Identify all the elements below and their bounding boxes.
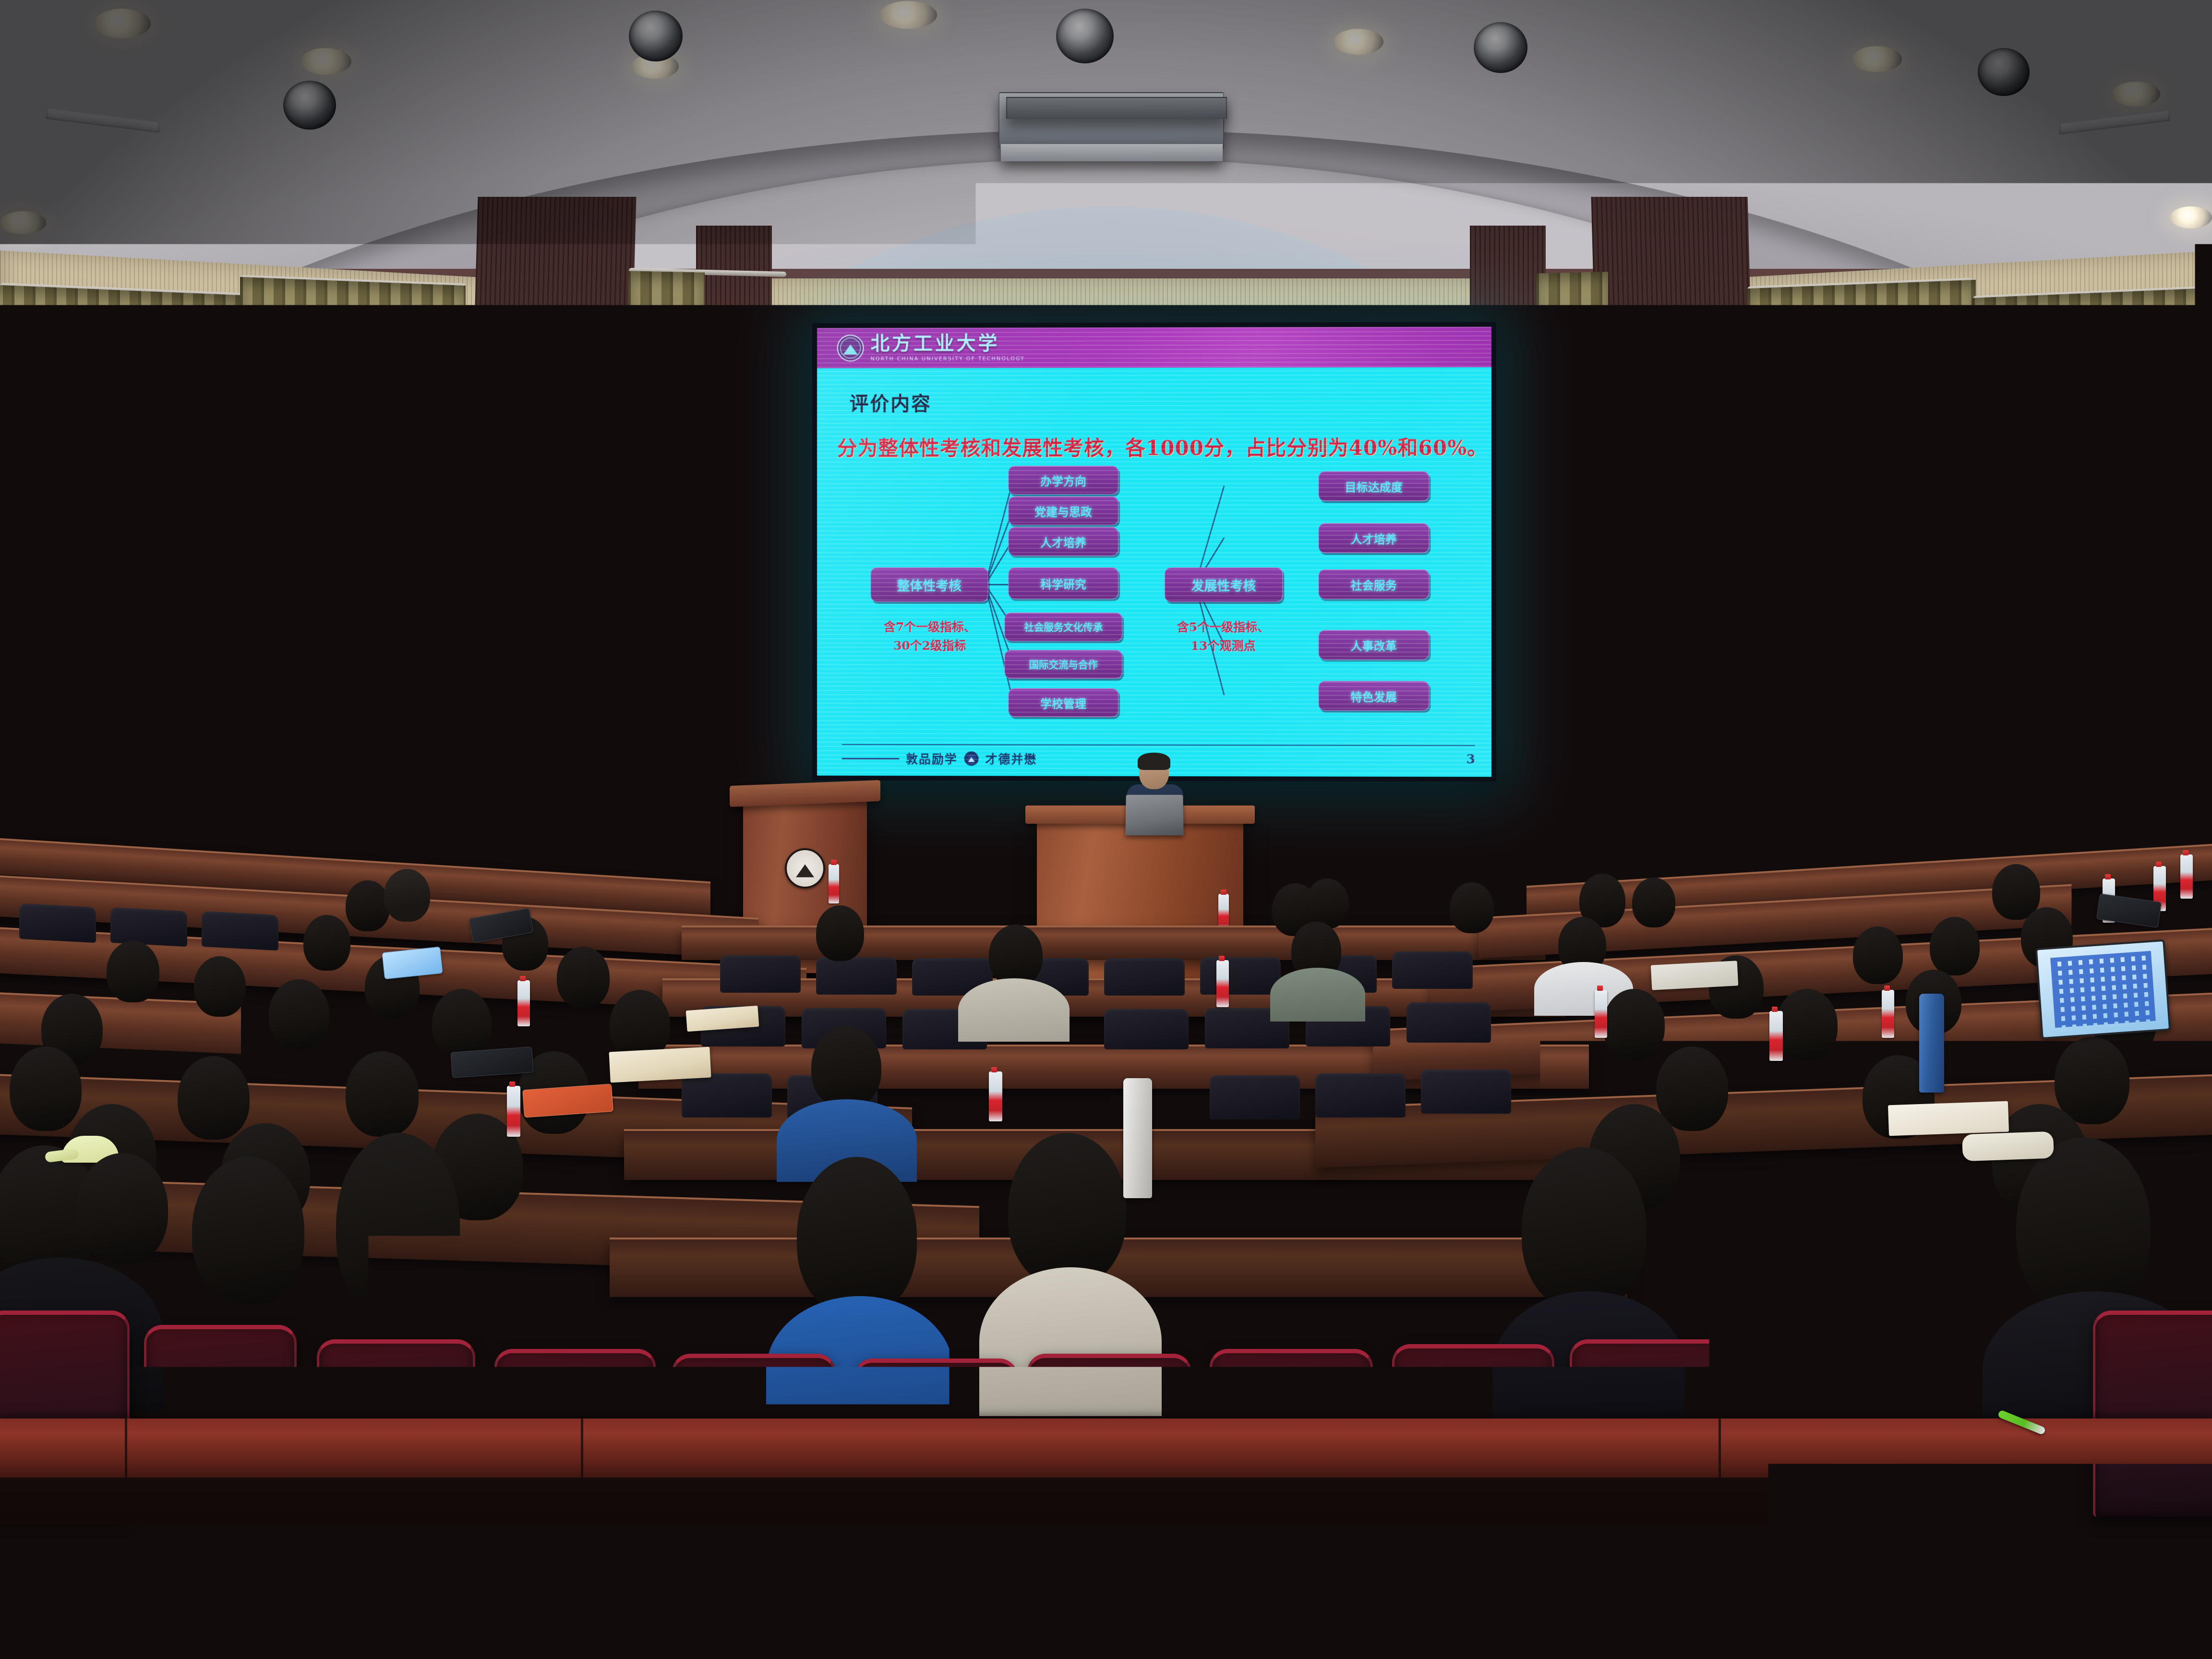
water-bottle <box>517 980 530 1026</box>
desk-seam <box>581 1419 583 1481</box>
emergency-exit-sign: 安全出口 EXIT <box>1854 656 1950 686</box>
audience-torso <box>958 978 1070 1042</box>
downlight-icon <box>2112 82 2160 107</box>
seat-back <box>202 911 278 950</box>
footer-seal-icon <box>964 751 979 766</box>
audience-head <box>384 869 430 922</box>
footer-motto-left: 敦品励学 <box>906 750 958 767</box>
node-left-item-1: 党建与思政 <box>1008 496 1118 525</box>
water-bottle <box>989 1071 1002 1121</box>
downlight-icon <box>301 48 351 75</box>
node-right-item-2: 社会服务 <box>1318 569 1429 599</box>
ceiling-speaker-icon <box>283 81 336 130</box>
kraft-notebook: able <box>1795 1395 1914 1466</box>
node-right-item-3: 人事改革 <box>1318 630 1429 660</box>
university-seal-icon <box>837 335 864 361</box>
audience-head-front <box>2016 1138 2151 1315</box>
audience-head <box>1603 989 1665 1060</box>
ceiling-trim <box>1001 144 1223 161</box>
water-bottle <box>507 1086 520 1137</box>
ceiling-speaker-icon <box>1474 22 1527 73</box>
audience-head-front <box>797 1157 917 1315</box>
notebook-cover-text: able <box>1796 1407 1911 1431</box>
university-name-cn: 北方工业大学 <box>870 334 1025 353</box>
acoustic-panel-right-b <box>1834 454 2083 669</box>
presenter-laptop <box>1125 795 1183 836</box>
seat-back <box>110 907 187 947</box>
audience-head-front <box>1522 1147 1647 1310</box>
downlight-icon <box>0 211 46 234</box>
exit-sign-label-en: EXIT <box>1919 667 1939 675</box>
curtain-left-b <box>240 277 466 593</box>
node-root-left: 整体性考核 <box>870 567 988 602</box>
ceiling-speaker-icon <box>1056 9 1114 63</box>
seat-back <box>1392 951 1473 989</box>
water-bottle <box>1216 960 1229 1007</box>
curtain-center-right <box>1536 272 1608 542</box>
seat-back <box>1200 957 1281 995</box>
audience-head <box>303 915 350 971</box>
slide-divider <box>842 744 1475 746</box>
slide-title: 评价内容 <box>850 388 932 416</box>
open-notebook <box>1888 1101 2009 1136</box>
downlight-icon <box>1334 29 1383 55</box>
seat-back <box>720 955 801 993</box>
ceiling-speaker-icon <box>629 11 683 61</box>
note-left: 含7个一级指标、 30个2级指标 <box>863 618 997 656</box>
downlight-icon <box>879 1 937 29</box>
wall-panel-dark-left <box>442 430 499 588</box>
wall-sconce-right <box>2086 691 2113 753</box>
audience-head <box>194 956 246 1017</box>
node-root-right: 发展性考核 <box>1165 567 1283 602</box>
seat-back <box>1104 958 1185 996</box>
speaker-hair <box>1138 753 1170 770</box>
footer-motto-right: 才德并懋 <box>986 750 1037 767</box>
audience-head <box>1776 989 1838 1060</box>
audience-head <box>1853 926 1903 984</box>
audience-head <box>107 941 159 1002</box>
note-right-line1: 含5个一级指标、 <box>1158 618 1288 637</box>
open-notebook <box>609 1047 711 1083</box>
audience-head <box>432 989 492 1058</box>
downlight-icon <box>1852 46 1902 72</box>
audience-head <box>269 979 329 1049</box>
node-left-item-5: 国际交流与合作 <box>1004 650 1122 679</box>
audience-head <box>1930 917 1980 975</box>
exit-sign-label-cn: 安全出口 <box>1864 666 1895 676</box>
podium-seal-icon <box>785 848 825 889</box>
water-bottle <box>1769 1011 1783 1061</box>
water-bottle <box>1595 990 1607 1038</box>
seat-back <box>1210 1075 1300 1119</box>
node-right-item-1: 人才培养 <box>1318 523 1429 553</box>
audience-head-front <box>336 1133 460 1318</box>
note-left-line1: 含7个一级指标、 <box>863 618 997 637</box>
watermark-label: 新闻网 <box>2070 1589 2187 1642</box>
note-right: 含5个一级指标、 13个观测点 <box>1158 618 1288 656</box>
node-right-item-4: 特色发展 <box>1318 681 1429 710</box>
audience-head <box>346 1051 419 1137</box>
node-left-item-3: 科学研究 <box>1008 567 1118 599</box>
wall-pilaster-right <box>1591 197 1763 763</box>
seat-back <box>1104 1009 1189 1049</box>
footer-rule <box>842 757 899 759</box>
audience-head <box>1450 882 1494 933</box>
audience-head-front <box>192 1157 304 1305</box>
slide-page-number: 3 <box>1467 752 1475 767</box>
audience-head <box>10 1046 82 1131</box>
curtain-center-left <box>628 271 705 541</box>
seat-back <box>1421 1070 1511 1114</box>
projection-screen: 北方工业大学 NORTH CHINA UNIVERSITY OF TECHNOL… <box>812 322 1496 782</box>
audience-torso <box>1270 968 1365 1022</box>
seat-back <box>816 957 897 995</box>
wall-sconce-left <box>209 699 235 758</box>
seat-back <box>1407 1002 1491 1043</box>
watermark-seal-icon <box>2018 1593 2062 1637</box>
university-name-en: NORTH CHINA UNIVERSITY OF TECHNOLOGY <box>870 355 1025 361</box>
ceiling-speaker-icon <box>1978 48 2030 96</box>
ceiling-housing-face <box>1006 97 1227 119</box>
thermos-flask <box>1123 1078 1152 1198</box>
open-notebook <box>921 1165 1066 1203</box>
thermos-flask <box>1919 994 1944 1093</box>
curtain-left-a <box>0 285 240 602</box>
desk-seam <box>1719 1419 1721 1481</box>
running-man-icon <box>1899 662 1916 680</box>
audience-head <box>816 905 864 961</box>
audience-head <box>1306 878 1349 928</box>
node-left-item-6: 学校管理 <box>1008 688 1118 717</box>
note-right-line2: 13个观测点 <box>1158 637 1288 656</box>
slide-lead-text: 分为整体性考核和发展性考核，各1000分，占比分别为40%和60%。 <box>837 432 1480 461</box>
audience-head <box>811 1026 881 1108</box>
foreground-shadow <box>0 1478 2212 1659</box>
node-right-item-0: 目标达成度 <box>1318 471 1429 501</box>
water-bottle <box>2180 854 2193 899</box>
audience-head <box>346 880 390 931</box>
desk-seam <box>125 1419 127 1481</box>
audience-head <box>2055 1037 2129 1124</box>
downlight-icon <box>2170 206 2212 228</box>
seat-back <box>19 903 96 943</box>
audience-head-front <box>77 1153 168 1264</box>
audience-head <box>557 947 610 1008</box>
note-left-line2: 30个2级指标 <box>863 637 997 655</box>
seat-back <box>1315 1073 1406 1118</box>
water-bottle <box>1882 990 1894 1038</box>
audience-head <box>1632 878 1675 927</box>
node-left-item-4: 社会服务文化传承 <box>1004 613 1122 641</box>
presentation-slide: 北方工业大学 NORTH CHINA UNIVERSITY OF TECHNOL… <box>817 327 1491 777</box>
node-left-item-0: 办学方向 <box>1008 466 1118 494</box>
wall-pilaster-inner-left <box>696 226 772 384</box>
downlight-icon <box>94 9 151 38</box>
audience-head <box>1656 1046 1728 1131</box>
slide-header: 北方工业大学 NORTH CHINA UNIVERSITY OF TECHNOL… <box>817 327 1491 368</box>
papers <box>1651 961 1738 990</box>
news-watermark: 新闻网 <box>2018 1589 2187 1642</box>
tablet-screen-content <box>2050 951 2155 1028</box>
water-bottle <box>829 864 839 903</box>
tablet-device[interactable] <box>2035 939 2171 1039</box>
auditorium-photo: 北方工业大学 NORTH CHINA UNIVERSITY OF TECHNOL… <box>0 0 2212 1659</box>
food-container <box>1962 1131 2054 1162</box>
audience-head <box>178 1056 250 1140</box>
audience-head-front <box>1008 1133 1126 1286</box>
audience-head <box>989 925 1043 986</box>
node-left-item-2: 人才培养 <box>1008 527 1118 556</box>
seat-back <box>682 1073 772 1118</box>
